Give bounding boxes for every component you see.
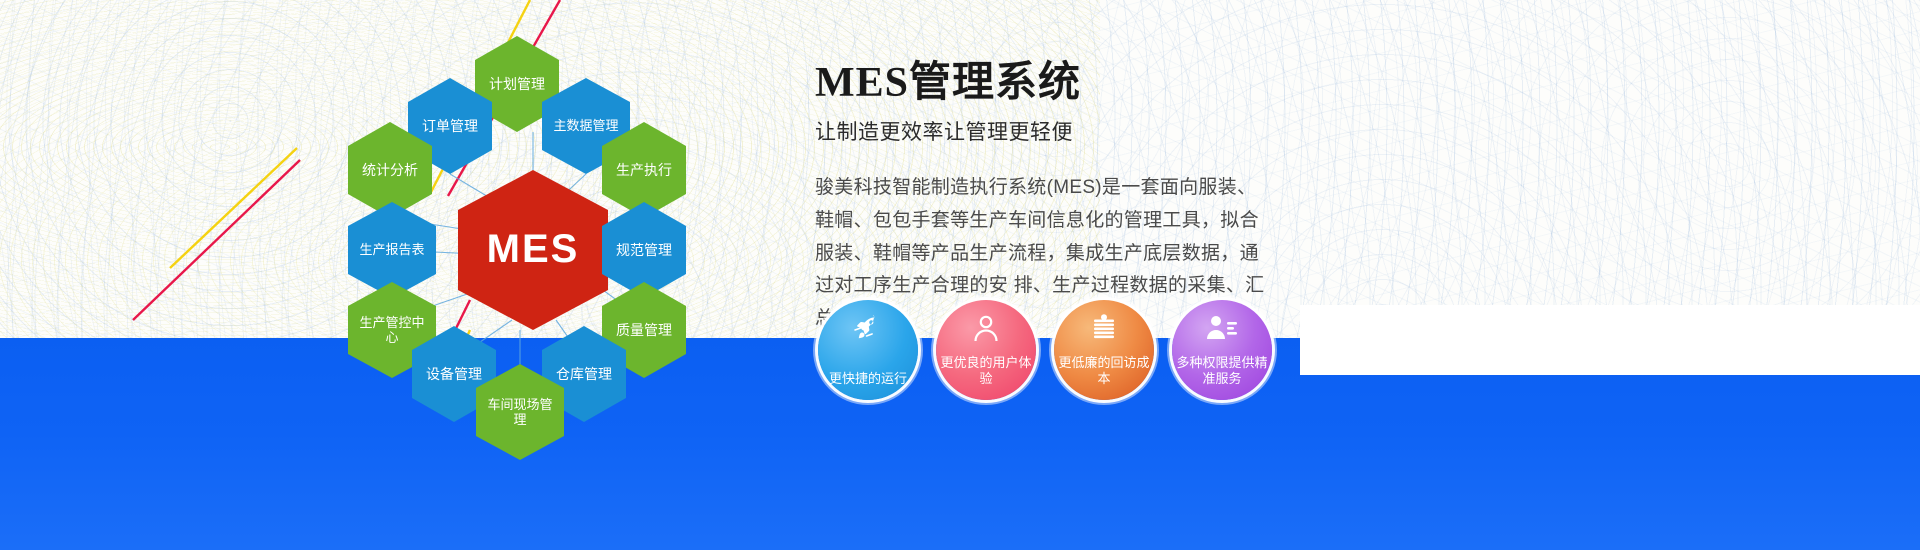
mes-hexagon-diagram: MES计划管理订单管理主数据管理统计分析生产执行生产报告表规范管理生产管控中心质… xyxy=(330,20,800,440)
document-icon xyxy=(1087,313,1121,343)
feature-badge-faster-operation[interactable]: 更快捷的运行 xyxy=(818,300,918,400)
mes-banner: MES计划管理订单管理主数据管理统计分析生产执行生产报告表规范管理生产管控中心质… xyxy=(0,0,1920,550)
page-subtitle: 让制造更效率让管理更轻便 xyxy=(815,116,1815,146)
feature-badge-permissions[interactable]: 多种权限提供精准服务 xyxy=(1172,300,1272,400)
feature-badge-list: 更快捷的运行 更优良的用户体验 xyxy=(818,300,1272,400)
feature-badge-lower-cost[interactable]: 更低廉的回访成本 xyxy=(1054,300,1154,400)
permission-icon xyxy=(1205,313,1239,343)
user-icon xyxy=(969,313,1003,343)
feature-badge-better-experience[interactable]: 更优良的用户体验 xyxy=(936,300,1036,400)
hex-node-label: MES xyxy=(458,170,608,330)
badge-label: 更低廉的回访成本 xyxy=(1058,355,1150,388)
badge-label: 更快捷的运行 xyxy=(822,371,914,388)
rocket-icon xyxy=(851,313,885,343)
badge-label: 更优良的用户体验 xyxy=(940,355,1032,388)
badge-label: 多种权限提供精准服务 xyxy=(1176,355,1268,388)
hex-node-11[interactable]: 车间现场管理 xyxy=(476,364,564,460)
headline-column: MES管理系统 让制造更效率让管理更轻便 骏美科技智能制造执行系统(MES)是一… xyxy=(815,60,1815,336)
page-title: MES管理系统 xyxy=(815,60,1815,106)
hex-node-label: 车间现场管理 xyxy=(476,364,564,460)
hex-node-center[interactable]: MES xyxy=(458,170,608,330)
